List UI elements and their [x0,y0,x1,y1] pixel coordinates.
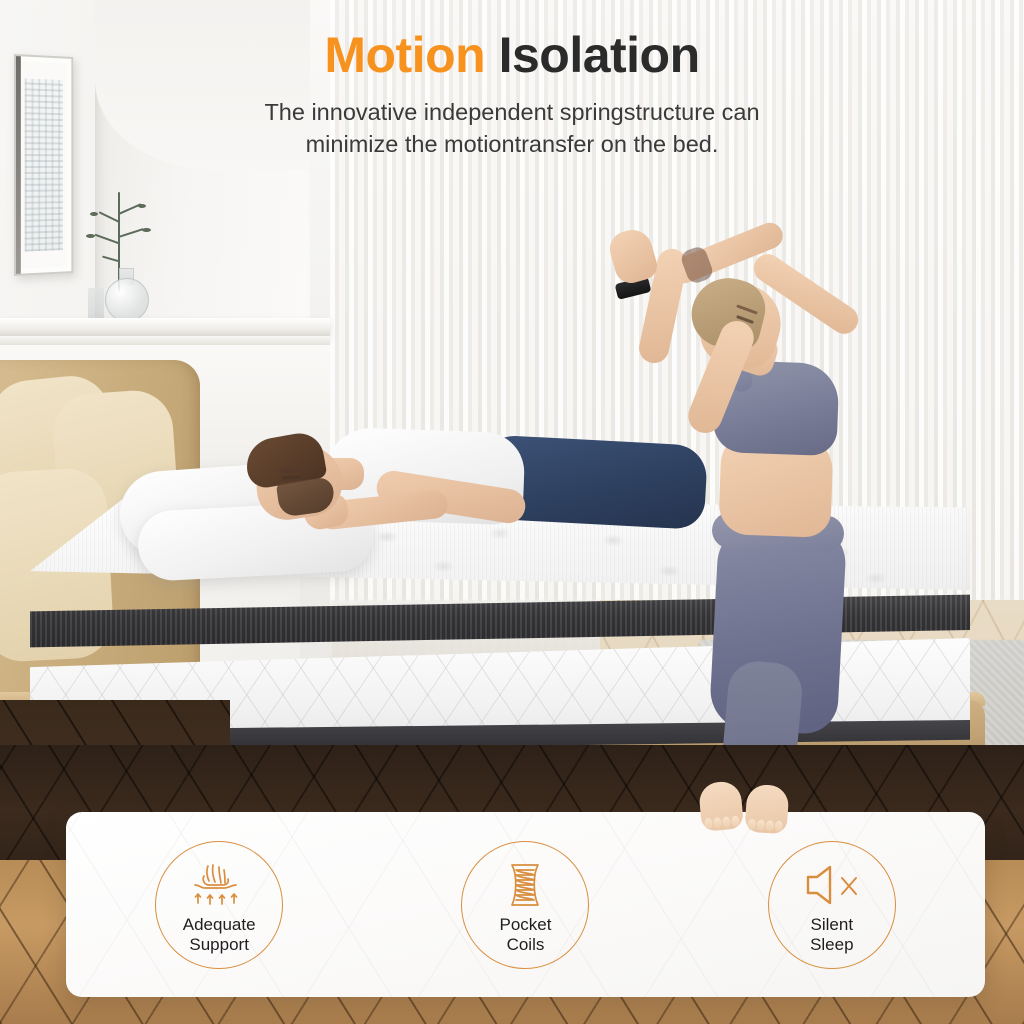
feature-circle: Adequate Support [155,841,283,969]
feature-adequate-support[interactable]: Adequate Support [66,841,372,969]
product-marketing-image: Motion Isolation The innovative independ… [0,0,1024,1024]
feature-pocket-coils[interactable]: Pocket Coils [372,841,678,969]
feature-label-line-2: Sleep [810,935,853,955]
wall-ledge-molding [0,318,330,336]
toe [748,819,757,831]
feature-list: Adequate Support Pocket [66,812,985,997]
pocket-coil-spring-icon [503,862,547,908]
headline-highlight: Motion [324,27,485,83]
toe [704,818,713,830]
feature-label-line-1: Silent [810,915,853,935]
wainscot-rail [0,336,330,345]
toe [731,815,740,827]
woman-hands [606,225,661,287]
feature-label-line-1: Adequate [183,915,256,935]
foot-left [698,780,744,831]
feature-circle: Pocket Coils [461,841,589,969]
framed-wall-art [14,54,73,276]
feature-label: Adequate Support [183,915,256,955]
page-title: Motion Isolation [0,30,1024,80]
toe [722,816,731,828]
headline-rest: Isolation [499,27,700,83]
feature-label: Pocket Coils [499,915,551,955]
feature-silent-sleep[interactable]: Silent Sleep [679,841,985,969]
subheadline: The innovative independent springstructu… [152,96,872,161]
feature-label-line-2: Support [183,935,256,955]
hand-press-support-icon [190,862,248,908]
subheadline-line-2: minimize the motiontransfer on the bed. [152,128,872,160]
art-frame-edge [16,56,21,274]
feature-card: Adequate Support Pocket [66,812,985,997]
feature-label: Silent Sleep [810,915,853,955]
feature-circle: Silent Sleep [768,841,896,969]
feature-label-line-2: Coils [499,935,551,955]
small-glass-vessel [88,288,104,322]
art-print [25,78,63,251]
toe [713,817,722,829]
foot-right [744,784,789,835]
toe [756,819,765,831]
subheadline-line-1: The innovative independent springstructu… [152,96,872,128]
toe [765,820,774,832]
woman-feet [700,782,796,832]
glass-vase [105,278,149,322]
stretching-woman [596,222,906,812]
feature-label-line-1: Pocket [499,915,551,935]
toe [774,821,783,833]
muted-speaker-icon [804,862,860,908]
